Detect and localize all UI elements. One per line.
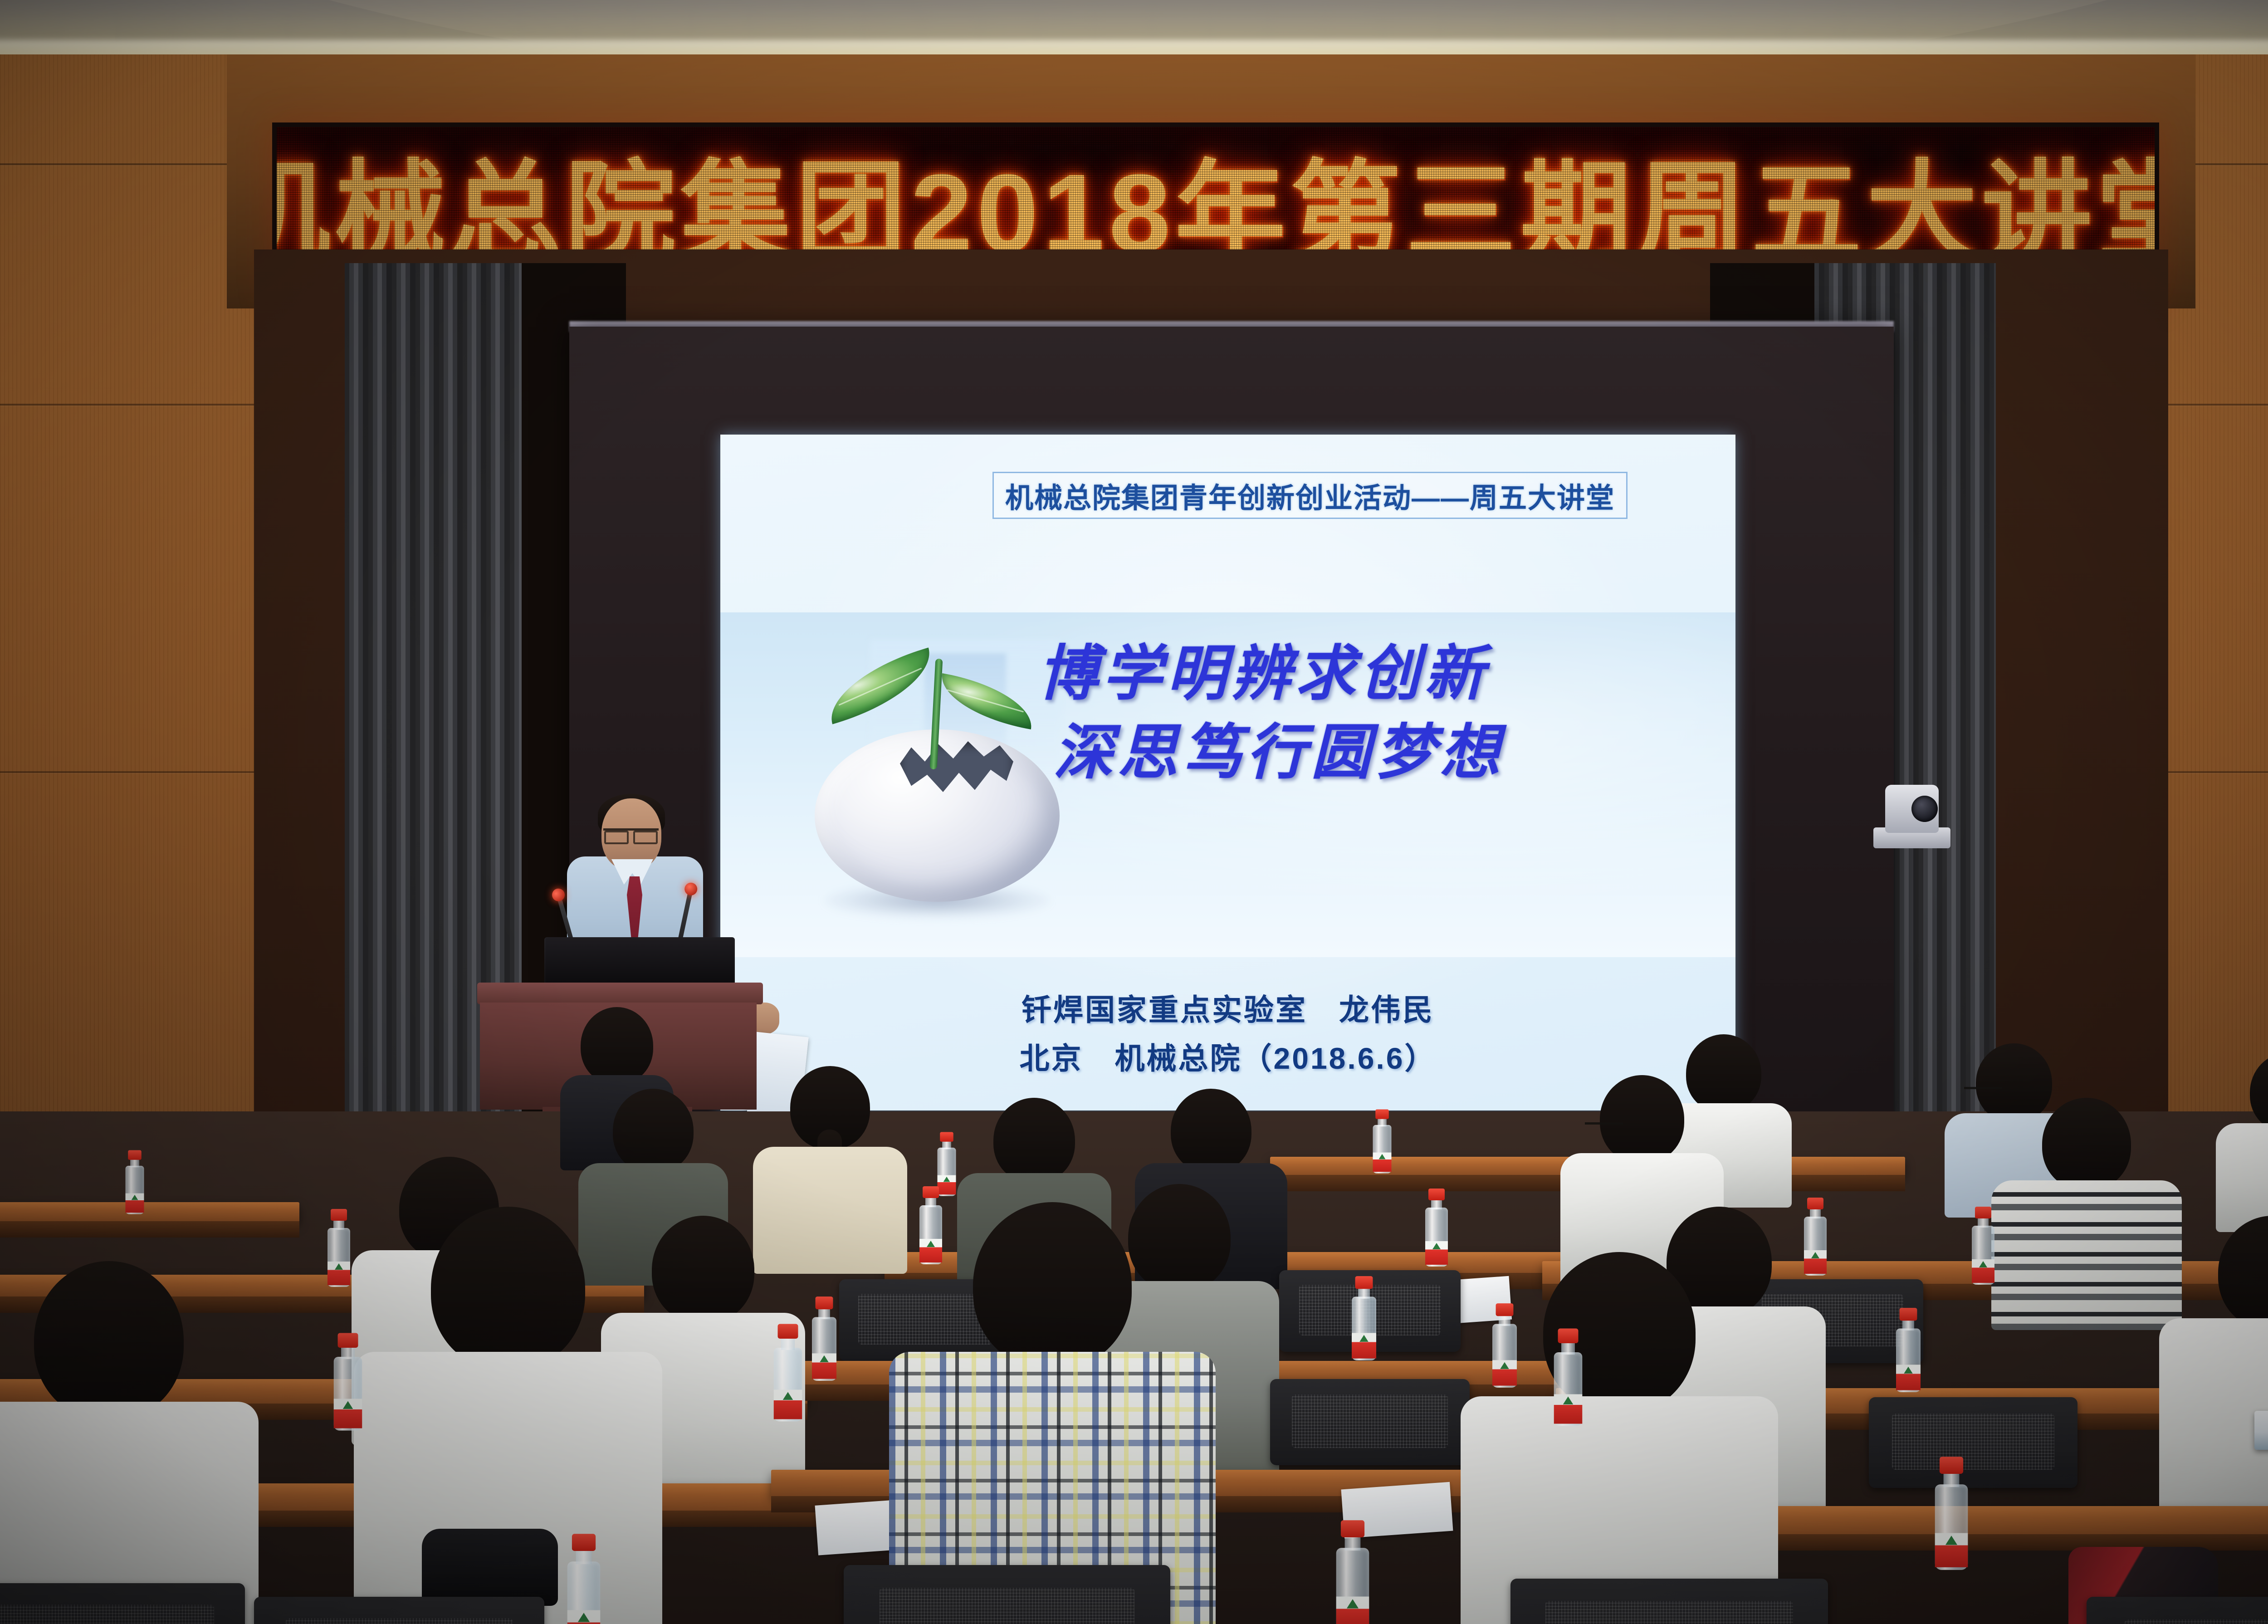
egg-sprout-graphic	[788, 634, 1079, 915]
water-bottle	[1971, 1207, 1995, 1285]
room-interior: 机械总院集团2018年第三期周五大讲堂 机械总院集团青年创新创业活动——周五大讲…	[0, 54, 2268, 1624]
conference-room-photo: 机械总院集团2018年第三期周五大讲堂 机械总院集团青年创新创业活动——周五大讲…	[0, 0, 2268, 1624]
attendee-head	[652, 1216, 754, 1324]
attendee-head	[431, 1207, 585, 1370]
chair[interactable]	[2087, 1597, 2268, 1624]
chair[interactable]	[1270, 1379, 1470, 1465]
attendee-head	[2250, 1052, 2268, 1132]
ptz-camera-lens	[1911, 796, 1938, 822]
attendee-a16b	[2173, 1216, 2268, 1533]
sprout-leaf-right	[935, 673, 1038, 729]
attendee-a3	[916, 1202, 1188, 1624]
attendee-a4b	[1488, 1252, 1751, 1624]
water-bottle	[1372, 1109, 1392, 1173]
attendee-torso	[1991, 1180, 2182, 1330]
attendee-a1	[0, 1261, 236, 1624]
chair[interactable]	[254, 1597, 544, 1624]
podium-laptop	[544, 937, 735, 988]
slide-hero-line-1: 博学明辨求创新	[1038, 634, 1709, 713]
chair[interactable]	[0, 1583, 245, 1624]
ptz-camera-icon	[1873, 785, 1950, 848]
attendee-a15	[2005, 1098, 2168, 1325]
attendee-head	[973, 1202, 1132, 1369]
attendee-head	[2042, 1098, 2131, 1190]
chair[interactable]	[1510, 1579, 1828, 1624]
attendee-head	[581, 1007, 653, 1084]
black-backpack	[422, 1529, 558, 1606]
attendee-torso	[2159, 1318, 2268, 1536]
water-bottle	[1895, 1308, 1921, 1392]
water-bottle	[811, 1296, 837, 1381]
attendee-glasses-icon	[1585, 1122, 1623, 1130]
attendee-head	[993, 1098, 1075, 1183]
chair[interactable]	[844, 1565, 1170, 1624]
slide-hero-line-2: 深思笃行圆梦想	[1053, 713, 1709, 792]
tissue-box	[2254, 1411, 2268, 1450]
water-bottle	[772, 1324, 803, 1422]
attendee-head	[1600, 1075, 1684, 1163]
water-bottle	[566, 1534, 601, 1624]
presentation-slide: 机械总院集团青年创新创业活动——周五大讲堂 博学明辨求创新 深思笃行圆梦想	[720, 435, 1735, 1110]
slide-footer-line-1: 钎焊国家重点实验室 龙伟民	[720, 986, 1735, 1034]
water-bottle	[332, 1333, 363, 1431]
attendee-glasses-icon	[1964, 1087, 2002, 1094]
slide-header-banner: 机械总院集团青年创新创业活动——周五大讲堂	[992, 472, 1628, 519]
water-bottle	[1934, 1457, 1969, 1570]
sprout-leaf-left	[820, 648, 942, 724]
water-bottle	[1351, 1276, 1377, 1360]
attendee-head	[613, 1089, 694, 1173]
attendee-a16	[2223, 1052, 2268, 1220]
water-bottle	[1335, 1520, 1370, 1624]
water-bottle	[1553, 1329, 1584, 1426]
podium-top	[477, 983, 763, 1004]
attendee-head	[1171, 1089, 1251, 1173]
slide-hero-text: 博学明辨求创新 深思笃行圆梦想	[1038, 634, 1709, 792]
water-bottle	[1424, 1189, 1449, 1267]
slide-header-text: 机械总院集团青年创新创业活动——周五大讲堂	[1005, 475, 1615, 516]
speaker-glasses-icon	[603, 828, 659, 838]
chair[interactable]	[1869, 1397, 2077, 1488]
desk-row5-left	[0, 1202, 299, 1222]
ptz-camera-head	[1885, 785, 1939, 833]
water-bottle	[327, 1209, 351, 1287]
attendee-head	[2218, 1216, 2268, 1330]
attendee-head	[34, 1261, 184, 1420]
water-bottle	[125, 1150, 145, 1214]
